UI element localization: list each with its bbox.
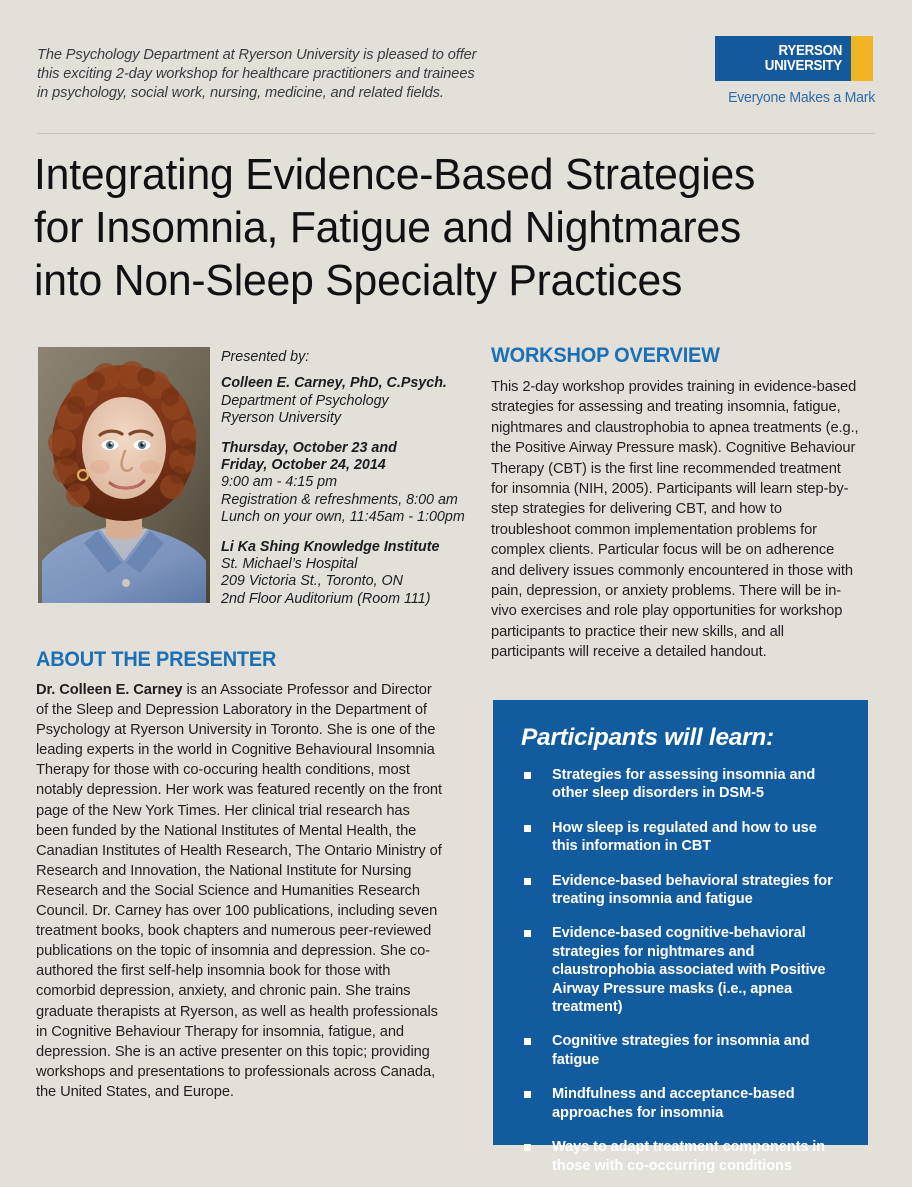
participants-will-learn-heading: Participants will learn: [521,724,846,752]
square-bullet-icon [524,772,531,779]
workshop-overview-section: WORKSHOP OVERVIEW This 2-day workshop pr… [491,344,883,663]
logo-word-line-1: RYERSON [778,44,842,59]
event-venue: Li Ka Shing Knowledge Institute St. Mich… [221,539,471,609]
list-item-label: Ways to adapt treatment components in th… [552,1139,825,1173]
event-schedule: Thursday, October 23 and Friday, October… [221,440,471,527]
event-registration: Registration & refreshments, 8:00 am [221,492,471,509]
title-line-1: Integrating Evidence-Based Strategies [34,148,859,201]
page-header: The Psychology Department at Ryerson Uni… [37,40,875,132]
learn-outcomes-list: Strategies for assessing insomnia and ot… [521,766,846,1175]
list-item: Cognitive strategies for insomnia and fa… [521,1032,846,1069]
list-item: Ways to adapt treatment components in th… [521,1138,846,1175]
venue-name: Li Ka Shing Knowledge Institute [221,539,439,555]
list-item: Mindfulness and acceptance-based approac… [521,1085,846,1122]
presenter-identity: Colleen E. Carney, PhD, C.Psych. Departm… [221,375,471,427]
event-lunch: Lunch on your own, 11:45am - 1:00pm [221,509,471,526]
logo-word-line-2: UNIVERSITY [765,59,842,74]
presenter-photo [38,347,210,603]
list-item: Strategies for assessing insomnia and ot… [521,766,846,803]
title-line-2: for Insomnia, Fatigue and Nightmares [34,201,859,254]
intro-line-3: in psychology, social work, nursing, med… [37,84,557,103]
logo-gold-bar [851,36,873,81]
square-bullet-icon [524,1144,531,1151]
list-item-label: Cognitive strategies for insomnia and fa… [552,1033,809,1067]
list-item-label: Evidence-based behavioral strategies for… [552,873,833,907]
square-bullet-icon [524,825,531,832]
presenter-university: Ryerson University [221,410,471,427]
intro-line-2: this exciting 2-day workshop for healthc… [37,65,557,84]
event-time: 9:00 am - 4:15 pm [221,474,471,491]
list-item-label: Evidence-based cognitive-behavioral stra… [552,925,825,1015]
list-item-label: Mindfulness and acceptance-based approac… [552,1086,795,1120]
about-presenter-body: Dr. Colleen E. Carney is an Associate Pr… [36,680,444,1102]
list-item: Evidence-based behavioral strategies for… [521,872,846,909]
about-presenter-section: ABOUT THE PRESENTER Dr. Colleen E. Carne… [36,648,456,1102]
ryerson-logo: RYERSON UNIVERSITY Everyone Makes a Mark [715,36,875,106]
workshop-overview-body: This 2-day workshop provides training in… [491,377,861,663]
list-item-label: How sleep is regulated and how to use th… [552,820,817,854]
presenter-name: Colleen E. Carney, PhD, C.Psych. [221,375,447,391]
square-bullet-icon [524,1038,531,1045]
square-bullet-icon [524,930,531,937]
about-body-text: is an Associate Professor and Director o… [36,682,442,1100]
about-presenter-heading: ABOUT THE PRESENTER [36,648,435,672]
title-line-3: into Non-Sleep Specialty Practices [34,254,859,307]
venue-address: 209 Victoria St., Toronto, ON [221,573,471,590]
list-item: How sleep is regulated and how to use th… [521,819,846,856]
flyer-page: The Psychology Department at Ryerson Uni… [0,0,912,1187]
list-item-label: Strategies for assessing insomnia and ot… [552,767,815,801]
logo-wordmark: RYERSON UNIVERSITY [715,36,851,81]
venue-hospital: St. Michael’s Hospital [221,556,471,573]
presenter-portrait-illustration [38,347,210,603]
venue-room: 2nd Floor Auditorium (Room 111) [221,591,471,608]
intro-text: The Psychology Department at Ryerson Uni… [37,46,557,104]
square-bullet-icon [524,878,531,885]
about-lead-name: Dr. Colleen E. Carney [36,682,182,698]
header-divider [37,133,875,134]
participants-will-learn-box: Participants will learn: Strategies for … [493,700,868,1145]
presenter-department: Department of Psychology [221,393,471,410]
event-date-line-2: Friday, October 24, 2014 [221,457,386,473]
intro-line-1: The Psychology Department at Ryerson Uni… [37,46,557,65]
logo-tagline: Everyone Makes a Mark [718,90,875,106]
presented-by-label: Presented by: [221,349,471,366]
square-bullet-icon [524,1091,531,1098]
event-date-line-1: Thursday, October 23 and [221,440,397,456]
workshop-overview-heading: WORKSHOP OVERVIEW [491,344,863,368]
logo-mark: RYERSON UNIVERSITY [715,36,873,81]
presenter-details: Presented by: Colleen E. Carney, PhD, C.… [221,349,471,608]
page-title: Integrating Evidence-Based Strategies fo… [34,148,884,307]
list-item: Evidence-based cognitive-behavioral stra… [521,924,846,1016]
